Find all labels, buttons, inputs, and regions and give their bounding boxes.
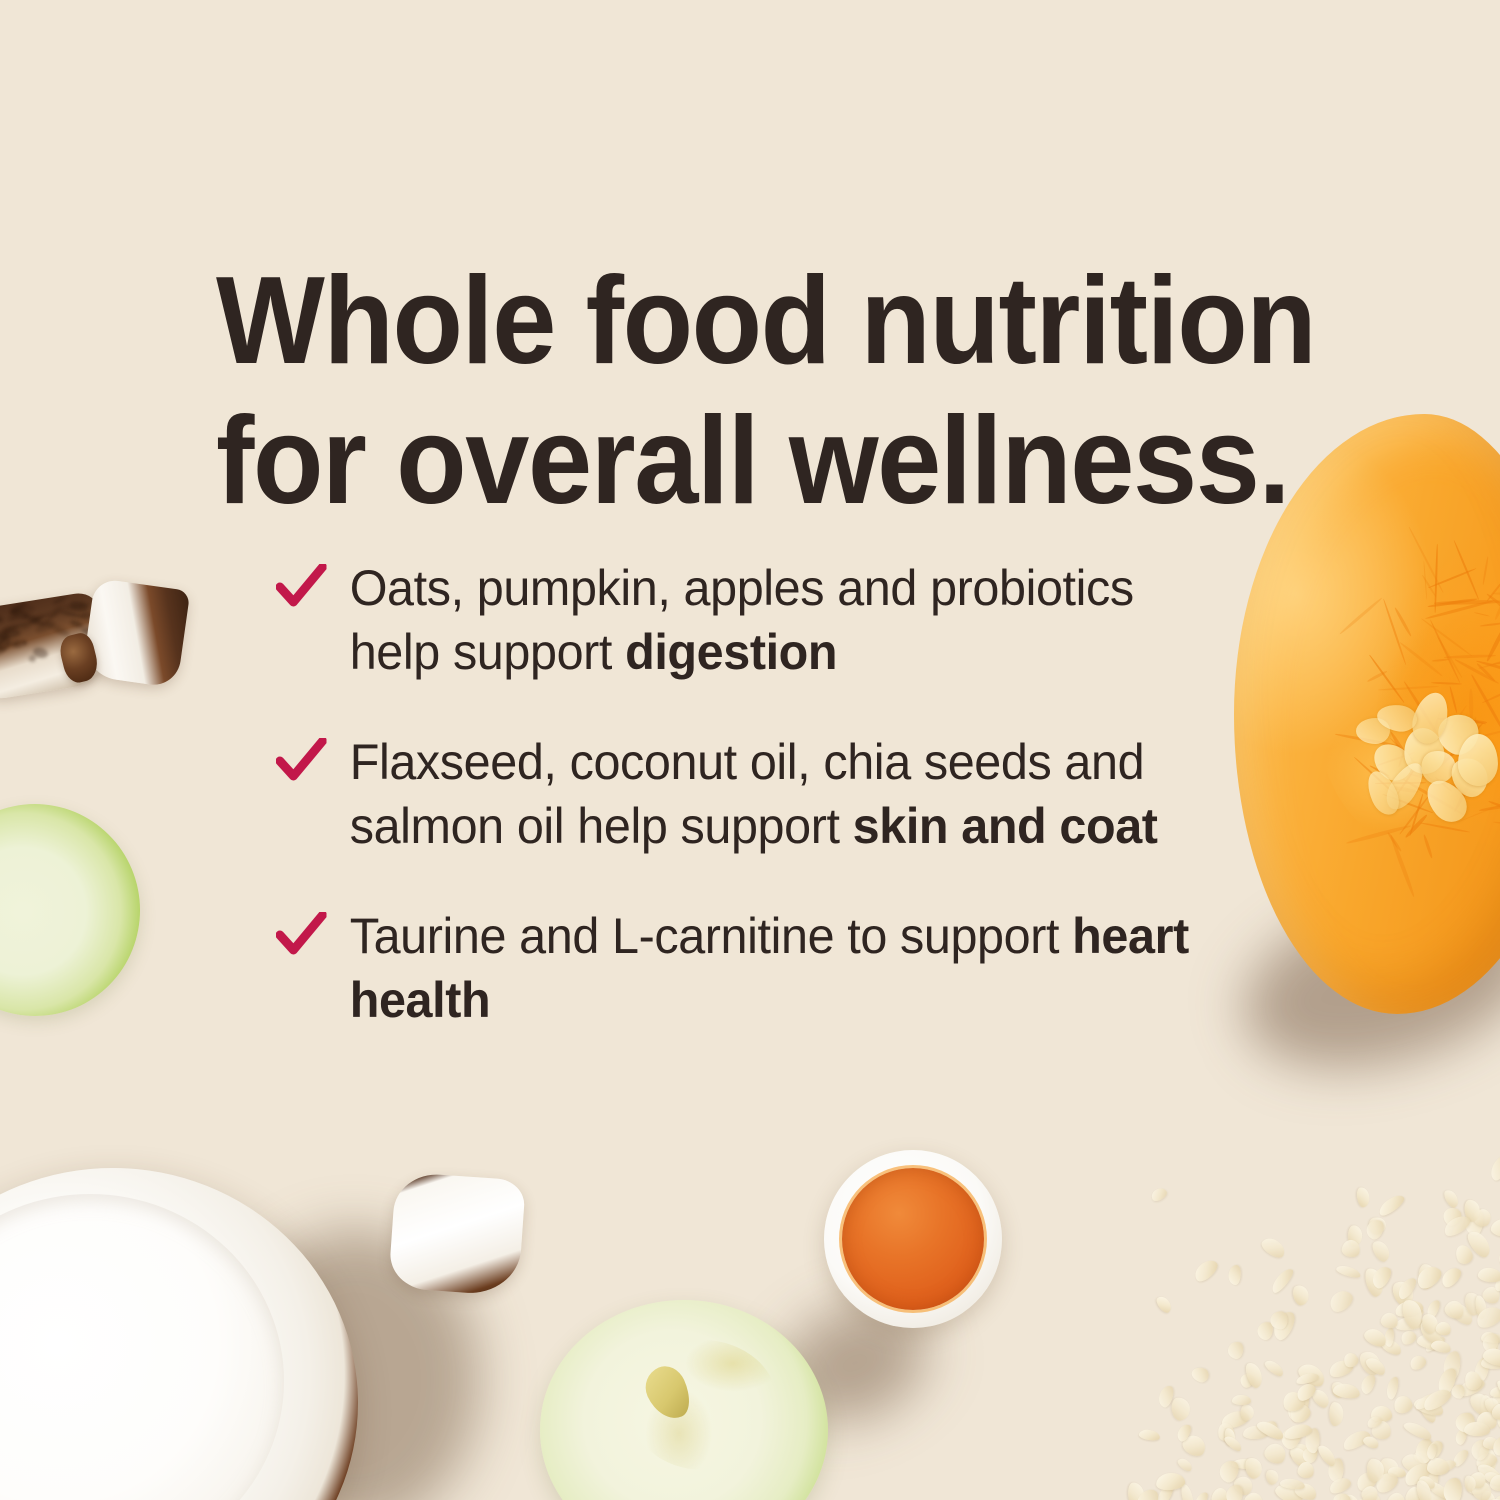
- benefit-text: Oats, pumpkin, apples and probiotics hel…: [350, 560, 1134, 680]
- promotional-banner: Whole food nutrition for overall wellnes…: [0, 0, 1500, 1500]
- salmon-oil-liquid: [842, 1168, 984, 1310]
- benefit-text: Taurine and L-carnitine to support heart…: [350, 908, 1189, 1028]
- coconut-half-image: [0, 1168, 358, 1500]
- green-apple-slice-image: [0, 794, 151, 1027]
- check-icon: [276, 912, 326, 956]
- check-icon: [276, 564, 326, 608]
- list-item: Taurine and L-carnitine to support heart…: [276, 904, 1227, 1032]
- headline-line-2: for overall wellness.: [216, 391, 1258, 531]
- check-icon: [276, 738, 326, 782]
- coconut-chunk-image: [388, 1172, 526, 1297]
- benefit-text: Flaxseed, coconut oil, chia seeds and sa…: [350, 734, 1158, 854]
- benefit-text-emphasis: digestion: [625, 624, 837, 680]
- green-apple-half-image: [540, 1300, 828, 1500]
- coconut-flesh: [0, 1194, 284, 1500]
- rolled-oats-image: [1100, 1116, 1500, 1500]
- benefit-text-normal: Taurine and L-carnitine to support: [350, 908, 1072, 964]
- pumpkin-seed-cavity: [1318, 564, 1500, 854]
- page-title: Whole food nutrition for overall wellnes…: [216, 251, 1258, 531]
- coconut-shell-piece-white: [82, 578, 191, 688]
- apple-core-detail: [628, 1340, 778, 1470]
- benefit-text-emphasis: skin and coat: [853, 798, 1158, 854]
- benefits-list: Oats, pumpkin, apples and probiotics hel…: [276, 556, 1256, 1032]
- list-item: Flaxseed, coconut oil, chia seeds and sa…: [276, 730, 1227, 858]
- headline-line-1: Whole food nutrition: [216, 251, 1258, 391]
- list-item: Oats, pumpkin, apples and probiotics hel…: [276, 556, 1227, 684]
- salmon-oil-bowl-image: [824, 1150, 1002, 1328]
